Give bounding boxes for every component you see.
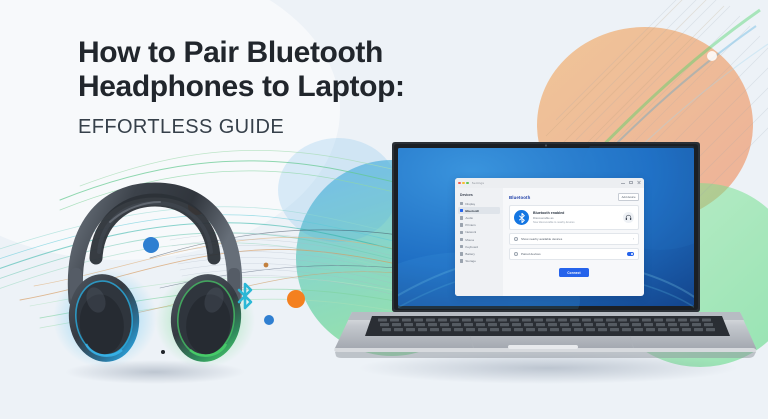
device-name: Bluetooth enabled [533, 211, 619, 215]
page-title-line-2: Headphones to Laptop: [78, 70, 458, 104]
laptop-keyboard [365, 316, 730, 336]
bluetooth-glyph [518, 213, 526, 223]
window-title-bar[interactable]: Settings [455, 178, 644, 188]
sidebar-item-audio[interactable]: Audio [458, 214, 500, 221]
content-heading: Bluetooth [509, 195, 530, 200]
sidebar-item-storage[interactable]: Storage [458, 258, 500, 265]
sidebar-item-label: Printers [465, 223, 475, 227]
bluetooth-icon [514, 210, 529, 225]
network-icon [460, 231, 463, 234]
sidebar-item-mouse[interactable]: Mouse [458, 236, 500, 243]
hero-text-block: How to Pair Bluetooth Headphones to Lapt… [78, 36, 458, 139]
maximize-icon[interactable] [466, 182, 469, 185]
chevron-right-icon[interactable]: › [633, 237, 634, 241]
blob-blue-left [278, 138, 398, 242]
settings-row-discover[interactable]: Show nearby available devices › [509, 233, 639, 245]
accent-dot-white [707, 51, 717, 61]
headphones-icon[interactable] [623, 212, 634, 223]
sidebar-item-label: Bluetooth [465, 209, 479, 213]
printer-icon [460, 223, 463, 226]
sidebar-item-display[interactable]: Display [458, 200, 500, 207]
settings-content: Bluetooth Add device Bluetooth enabled D… [503, 188, 644, 296]
sidebar-item-label: Keyboard [465, 245, 478, 249]
minimize-button[interactable] [621, 181, 625, 185]
device-card-text: Bluetooth enabled Discoverable as Now di… [533, 211, 619, 224]
sidebar-item-label: Audio [465, 216, 473, 220]
search-icon [514, 237, 518, 241]
sidebar-item-battery[interactable]: Battery [458, 250, 500, 257]
row-label: Paired devices [521, 252, 624, 256]
paired-devices-toggle[interactable] [627, 252, 634, 256]
close-button[interactable] [637, 181, 641, 185]
accent-dot-blue-2 [264, 315, 274, 325]
display-icon [460, 202, 463, 205]
accent-dot-orange-2 [287, 290, 305, 308]
sidebar-item-label: Mouse [465, 238, 474, 242]
connect-button[interactable]: Connect [559, 268, 588, 277]
page-subtitle: EFFORTLESS GUIDE [78, 116, 458, 139]
cta-container: Connect [509, 268, 639, 277]
mouse-icon [460, 238, 463, 241]
headphones-glyph [625, 214, 632, 221]
sidebar-item-bluetooth[interactable]: Bluetooth [458, 207, 500, 214]
sidebar-item-network[interactable]: Network [458, 229, 500, 236]
add-device-button[interactable]: Add device [618, 193, 639, 201]
poster-canvas: How to Pair Bluetooth Headphones to Lapt… [0, 0, 768, 419]
sidebar-item-printers[interactable]: Printers [458, 222, 500, 229]
page-title: How to Pair Bluetooth Headphones to Lapt… [78, 36, 458, 103]
accent-dot-blue-1 [143, 237, 159, 253]
sidebar-item-label: Battery [465, 252, 475, 256]
device-status: Discoverable as [533, 216, 619, 220]
storage-icon [460, 259, 463, 262]
sidebar-item-label: Network [465, 230, 476, 234]
sidebar-heading: Devices [460, 193, 500, 197]
traffic-lights[interactable] [458, 182, 469, 185]
bluetooth-device-card[interactable]: Bluetooth enabled Discoverable as Now di… [509, 205, 639, 230]
keyboard-icon [460, 245, 463, 248]
sidebar-item-label: Display [465, 202, 475, 206]
link-icon [514, 252, 518, 256]
sidebar-item-label: Storage [465, 259, 476, 263]
settings-row-paired[interactable]: Paired devices [509, 248, 639, 260]
battery-icon [460, 252, 463, 255]
close-icon[interactable] [458, 182, 461, 185]
bluetooth-icon [460, 209, 463, 212]
maximize-button[interactable] [629, 181, 633, 185]
row-label: Show nearby available devices [521, 237, 630, 241]
minimize-icon[interactable] [462, 182, 465, 185]
window-title: Settings [472, 181, 484, 185]
sidebar-item-keyboard[interactable]: Keyboard [458, 243, 500, 250]
device-detail: Now discoverable to nearby devices [533, 221, 619, 224]
accent-dot-small [264, 263, 269, 268]
settings-sidebar[interactable]: Devices Display Bluetooth Audio Printers [455, 188, 503, 296]
audio-icon [460, 216, 463, 219]
settings-window[interactable]: Settings Devices Display Bluetooth [455, 178, 644, 296]
window-controls[interactable] [621, 181, 641, 185]
content-header: Bluetooth Add device [509, 193, 639, 201]
page-title-line-1: How to Pair Bluetooth [78, 36, 383, 69]
